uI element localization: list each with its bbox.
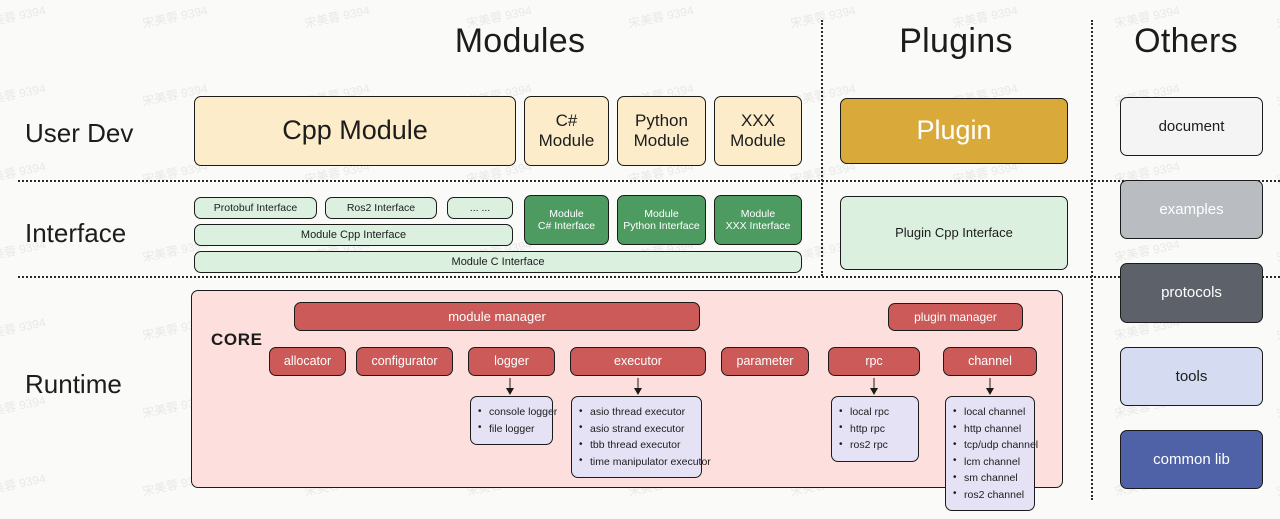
core-component-parameter[interactable]: parameter (721, 347, 809, 376)
watermark-text: 宋美蓉 9394 (141, 1, 209, 31)
others-box-examples[interactable]: examples (1120, 180, 1263, 239)
arrow-logger-to-details (503, 378, 517, 394)
core-component-configurator[interactable]: configurator (356, 347, 453, 376)
interface-box-python[interactable]: Module Python Interface (617, 195, 706, 245)
watermark-text: 宋美蓉 9394 (1275, 313, 1280, 343)
module-box-xxx[interactable]: XXX Module (714, 96, 802, 166)
interface-box-plugin-cpp[interactable]: Plugin Cpp Interface (840, 196, 1068, 270)
others-box-common-lib[interactable]: common lib (1120, 430, 1263, 489)
row-label-runtime: Runtime (25, 369, 122, 400)
row-label-user-dev: User Dev (25, 118, 133, 149)
core-component-channel[interactable]: channel (943, 347, 1037, 376)
interface-box-module-cpp[interactable]: Module Cpp Interface (194, 224, 513, 246)
plugin-box[interactable]: Plugin (840, 98, 1068, 164)
core-module-manager[interactable]: module manager (294, 302, 700, 331)
others-box-tools[interactable]: tools (1120, 347, 1263, 406)
core-component-rpc[interactable]: rpc (828, 347, 920, 376)
interface-box-xxx[interactable]: Module XXX Interface (714, 195, 802, 245)
core-component-executor[interactable]: executor (570, 347, 706, 376)
watermark-text: 宋美蓉 9394 (1275, 391, 1280, 421)
detail-item: ros2 rpc (839, 437, 910, 454)
detail-item: console logger (478, 404, 544, 421)
detail-panel-executor: asio thread executorasio strand executor… (571, 396, 702, 478)
interface-box-module-c[interactable]: Module C Interface (194, 251, 802, 273)
row-label-interface: Interface (25, 218, 126, 249)
detail-item: local channel (953, 404, 1026, 421)
watermark-text: 宋美蓉 9394 (0, 1, 47, 31)
watermark-text: 宋美蓉 9394 (1275, 157, 1280, 187)
detail-list-logger: console loggerfile logger (478, 404, 544, 437)
watermark-text: 宋美蓉 9394 (1275, 79, 1280, 109)
detail-item: local rpc (839, 404, 910, 421)
interface-box-protobuf[interactable]: Protobuf Interface (194, 197, 317, 219)
watermark-text: 宋美蓉 9394 (0, 313, 47, 343)
detail-item: tcp/udp channel (953, 437, 1026, 454)
interface-box-ros2[interactable]: Ros2 Interface (325, 197, 437, 219)
detail-item: tbb thread executor (579, 437, 693, 454)
divider-plugins-others (1091, 20, 1093, 500)
detail-item: ros2 channel (953, 487, 1026, 504)
column-header-plugins: Plugins (826, 22, 1086, 61)
detail-item: asio thread executor (579, 404, 693, 421)
detail-item: time manipulator executor (579, 454, 693, 471)
column-header-others: Others (1096, 22, 1276, 61)
core-component-allocator[interactable]: allocator (269, 347, 346, 376)
architecture-diagram: 宋美蓉 9394宋美蓉 9394宋美蓉 9394宋美蓉 9394宋美蓉 9394… (0, 0, 1280, 519)
detail-item: asio strand executor (579, 421, 693, 438)
module-box-cpp[interactable]: Cpp Module (194, 96, 516, 166)
core-component-logger[interactable]: logger (468, 347, 555, 376)
arrow-channel-to-details (983, 378, 997, 394)
watermark-text: 宋美蓉 9394 (0, 79, 47, 109)
arrow-executor-to-details (631, 378, 645, 394)
others-box-protocols[interactable]: protocols (1120, 263, 1263, 323)
detail-item: http rpc (839, 421, 910, 438)
module-box-python[interactable]: Python Module (617, 96, 706, 166)
watermark-text: 宋美蓉 9394 (0, 157, 47, 187)
detail-item: file logger (478, 421, 544, 438)
module-box-csharp[interactable]: C# Module (524, 96, 609, 166)
detail-list-executor: asio thread executorasio strand executor… (579, 404, 693, 470)
detail-panel-channel: local channelhttp channeltcp/udp channel… (945, 396, 1035, 511)
core-label: CORE (211, 330, 263, 350)
detail-item: lcm channel (953, 454, 1026, 471)
core-plugin-manager[interactable]: plugin manager (888, 303, 1023, 331)
watermark-text: 宋美蓉 9394 (1113, 235, 1181, 265)
divider-modules-plugins (821, 20, 823, 276)
detail-list-rpc: local rpchttp rpcros2 rpc (839, 404, 910, 454)
interface-box-csharp[interactable]: Module C# Interface (524, 195, 609, 245)
detail-item: http channel (953, 421, 1026, 438)
column-header-modules: Modules (260, 22, 780, 61)
arrow-rpc-to-details (867, 378, 881, 394)
watermark-text: 宋美蓉 9394 (1275, 469, 1280, 499)
detail-list-channel: local channelhttp channeltcp/udp channel… (953, 404, 1026, 503)
others-box-document[interactable]: document (1120, 97, 1263, 156)
detail-panel-rpc: local rpchttp rpcros2 rpc (831, 396, 919, 462)
detail-panel-logger: console loggerfile logger (470, 396, 553, 445)
watermark-text: 宋美蓉 9394 (1275, 235, 1280, 265)
interface-box-more[interactable]: ... ... (447, 197, 513, 219)
detail-item: sm channel (953, 470, 1026, 487)
watermark-text: 宋美蓉 9394 (0, 469, 47, 499)
